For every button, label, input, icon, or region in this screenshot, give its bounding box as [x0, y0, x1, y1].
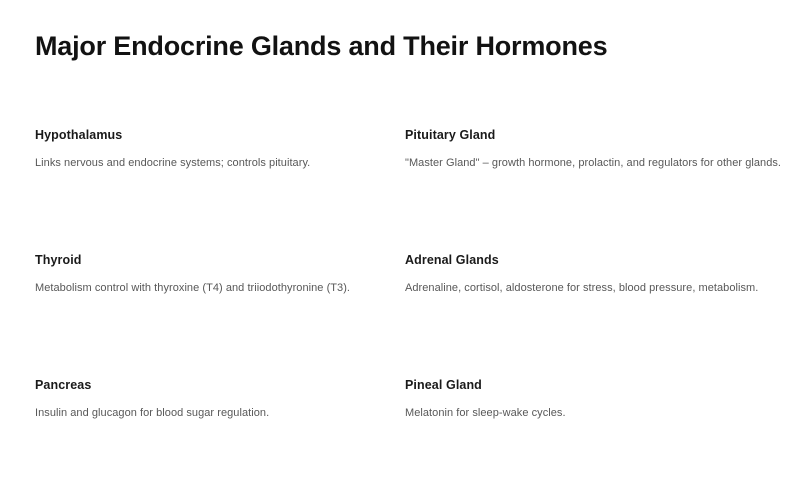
- gland-name: Pineal Gland: [405, 378, 761, 393]
- gland-grid: Hypothalamus Links nervous and endocrine…: [35, 128, 775, 503]
- gland-name: Hypothalamus: [35, 128, 391, 143]
- gland-card-pancreas: Pancreas Insulin and glucagon for blood …: [35, 378, 405, 503]
- gland-description: Metabolism control with thyroxine (T4) a…: [35, 268, 391, 296]
- gland-name: Thyroid: [35, 253, 391, 268]
- gland-name: Pancreas: [35, 378, 391, 393]
- gland-description: "Master Gland" – growth hormone, prolact…: [405, 143, 761, 171]
- gland-description: Adrenaline, cortisol, aldosterone for st…: [405, 268, 761, 296]
- gland-card-pineal-gland: Pineal Gland Melatonin for sleep-wake cy…: [405, 378, 775, 503]
- gland-card-thyroid: Thyroid Metabolism control with thyroxin…: [35, 253, 405, 378]
- gland-description: Insulin and glucagon for blood sugar reg…: [35, 393, 391, 421]
- gland-card-adrenal-glands: Adrenal Glands Adrenaline, cortisol, ald…: [405, 253, 775, 378]
- gland-description: Melatonin for sleep-wake cycles.: [405, 393, 761, 421]
- gland-card-hypothalamus: Hypothalamus Links nervous and endocrine…: [35, 128, 405, 253]
- slide-canvas: Major Endocrine Glands and Their Hormone…: [0, 0, 800, 450]
- gland-card-pituitary-gland: Pituitary Gland "Master Gland" – growth …: [405, 128, 775, 253]
- page-title: Major Endocrine Glands and Their Hormone…: [35, 30, 607, 62]
- gland-name: Pituitary Gland: [405, 128, 761, 143]
- gland-description: Links nervous and endocrine systems; con…: [35, 143, 391, 171]
- gland-name: Adrenal Glands: [405, 253, 761, 268]
